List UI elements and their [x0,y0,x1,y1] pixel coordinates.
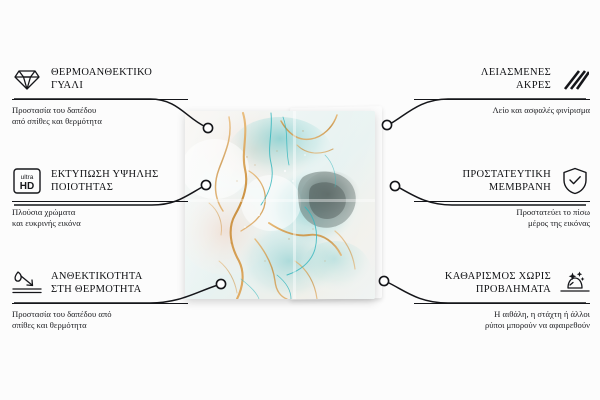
connector-dot-right-1 [390,181,399,190]
feature-right-1: ΠΡΟΣΤΑΤΕΥΤΙΚΗ ΜΕΜΒΡΑΝΗ Προστατεύει το πί… [414,164,590,230]
feature-left-1: ultra HD ΕΚΤΥΠΩΣΗ ΥΨΗΛΗΣ ΠΟΙΟΤΗΤΑΣ Πλούσ… [12,164,188,230]
connector-dot-left-2 [216,279,225,288]
feature-title: ΠΡΟΣΤΑΤΕΥΤΙΚΗ ΜΕΜΒΡΑΝΗ [414,168,551,195]
feature-right-2: ΚΑΘΑΡΙΣΜΟΣ ΧΩΡΙΣ ΠΡΟΒΛΗΜΑΤΑ Η αιθάλη, η … [414,266,590,332]
feature-body: Προστασία του δαπέδου από σπίθες και θερ… [12,309,188,332]
ultra-hd-icon: ultra HD [12,166,42,196]
diamond-icon [12,64,42,94]
infographic-stage: ΘΕΡΜΟΑΝΘΕΚΤΙΚΟ ΓΥΑΛΙ Προστασία του δαπέδ… [0,0,600,400]
feature-body: Προστασία του δαπέδου από σπίθες και θερ… [12,105,188,128]
feature-body: Η αιθάλη, η στάχτη ή άλλοι ρύποι μπορούν… [414,309,590,332]
feature-title: ΑΝΘΕΚΤΙΚΟΤΗΤΑ ΣΤΗ ΘΕΡΜΟΤΗΤΑ [51,270,188,297]
polished-edges-icon [560,64,590,94]
feature-title: ΕΚΤΥΠΩΣΗ ΥΨΗΛΗΣ ΠΟΙΟΤΗΤΑΣ [51,168,188,195]
shield-check-icon [560,166,590,196]
feature-divider [414,303,590,304]
feature-body: Προστατεύει το πίσω μέρος της εικόνας [414,207,590,230]
feature-body: Λείο και ασφαλές φινίρισμα [414,105,590,116]
feature-divider [414,201,590,202]
feature-divider [12,303,188,304]
easy-cleaning-icon [560,268,590,298]
feature-title: ΛΕΙΑΣΜΕΝΕΣ ΑΚΡΕΣ [414,66,551,93]
feature-divider [12,201,188,202]
svg-text:HD: HD [20,181,34,192]
feature-divider [414,99,590,100]
feature-left-2: ΑΝΘΕΚΤΙΚΟΤΗΤΑ ΣΤΗ ΘΕΡΜΟΤΗΤΑ Προστασία το… [12,266,188,332]
connector-dot-right-2 [379,276,388,285]
feature-right-0: ΛΕΙΑΣΜΕΝΕΣ ΑΚΡΕΣ Λείο και ασφαλές φινίρι… [414,62,590,116]
feature-title: ΘΕΡΜΟΑΝΘΕΚΤΙΚΟ ΓΥΑΛΙ [51,66,188,93]
svg-text:ultra: ultra [21,174,34,181]
feature-body: Πλούσια χρώματα και ευκρινής εικόνα [12,207,188,230]
feature-divider [12,99,188,100]
connector-dot-left-0 [203,123,212,132]
heat-resistance-icon [12,268,42,298]
connector-dot-left-1 [201,180,210,189]
connector-dot-right-0 [382,120,391,129]
feature-left-0: ΘΕΡΜΟΑΝΘΕΚΤΙΚΟ ΓΥΑΛΙ Προστασία του δαπέδ… [12,62,188,128]
feature-title: ΚΑΘΑΡΙΣΜΟΣ ΧΩΡΙΣ ΠΡΟΒΛΗΜΑΤΑ [414,270,551,297]
